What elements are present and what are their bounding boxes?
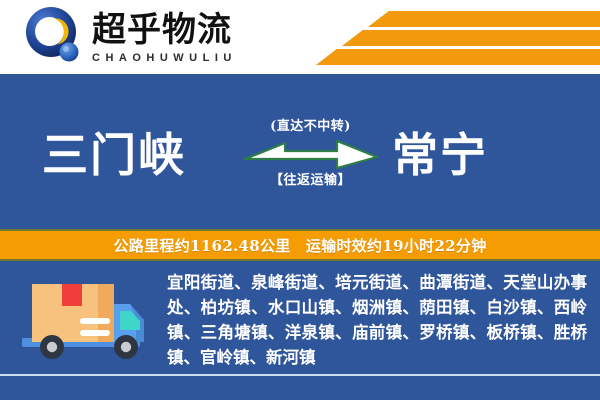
brand-name-en: CHAOHUWULIU xyxy=(92,51,237,65)
origin-city: 三门峡 xyxy=(42,74,186,229)
route-arrow-block: (直达不中转) 【往返运输】 xyxy=(238,104,383,204)
stripe-3 xyxy=(316,48,600,65)
decorative-stripes xyxy=(270,0,600,74)
service-areas-text: 宜阳街道、泉峰街道、培元街道、曲潭街道、天堂山办事处、柏坊镇、水口山镇、烟洲镇、… xyxy=(167,270,587,370)
brand-text: 超乎物流 CHAOHUWULIU xyxy=(92,10,237,65)
circle-crescent-logo-icon xyxy=(24,6,86,68)
route-band: 三门峡 (直达不中转) 【往返运输】 常宁 xyxy=(0,74,600,229)
delivery-truck-icon xyxy=(18,274,150,366)
direct-note: (直达不中转) xyxy=(270,119,351,135)
brand-logo[interactable]: 超乎物流 CHAOHUWULIU xyxy=(24,6,237,68)
brand-name-cn: 超乎物流 xyxy=(92,10,237,50)
logistics-route-poster: 超乎物流 CHAOHUWULIU 三门峡 (直达不中转) 【往返运输】 常宁 公… xyxy=(0,0,600,400)
distance-bar-text: 公路里程约1162.48公里 运输时效约19小时22分钟 xyxy=(114,235,487,256)
destination-city: 常宁 xyxy=(392,74,488,229)
roundtrip-note: 【往返运输】 xyxy=(270,173,351,189)
section-divider xyxy=(0,374,600,376)
distance-bar: 公路里程约1162.48公里 运输时效约19小时22分钟 xyxy=(0,229,600,261)
stripe-2 xyxy=(342,29,600,46)
header: 超乎物流 CHAOHUWULIU xyxy=(0,0,600,74)
stripe-1 xyxy=(368,10,600,27)
double-headed-arrow-icon xyxy=(243,137,379,171)
